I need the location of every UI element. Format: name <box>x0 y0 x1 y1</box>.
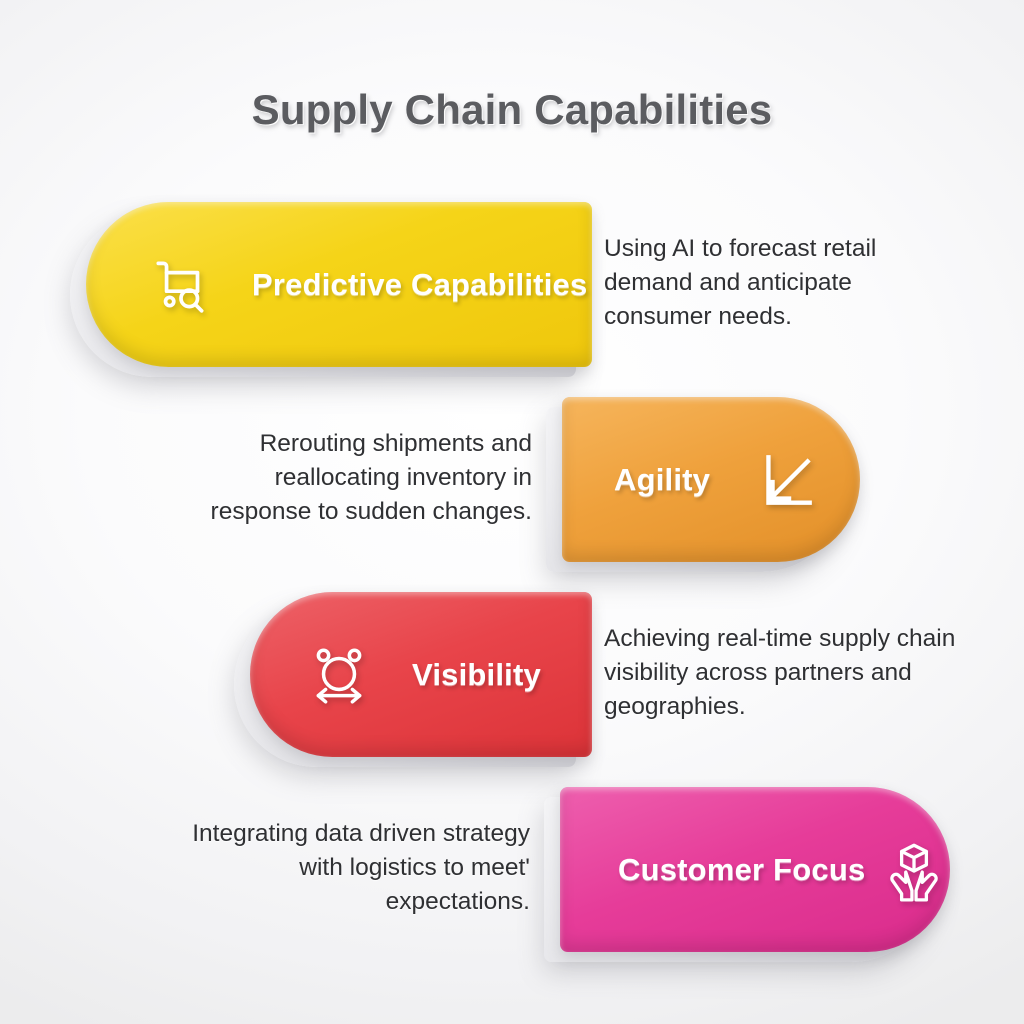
capability-row: Visibility Achieving real-time supply ch… <box>0 580 1024 770</box>
cart-search-icon <box>148 252 214 318</box>
capability-bar-agility[interactable]: Agility <box>562 397 860 562</box>
capability-row: Integrating data driven strategy with lo… <box>0 775 1024 965</box>
bar-label: Visibility <box>412 657 541 693</box>
capability-row: Rerouting shipments and reallocating inv… <box>0 385 1024 575</box>
network-node-icon <box>306 642 372 708</box>
bar-label: Predictive Capabilities <box>252 267 587 303</box>
capability-bar-visibility[interactable]: Visibility <box>250 592 592 757</box>
capability-bar-predictive-capabilities[interactable]: Predictive Capabilities <box>86 202 592 367</box>
capability-bar-customer-focus[interactable]: Customer Focus <box>560 787 950 952</box>
capability-description-customer-focus: Integrating data driven strategy with lo… <box>152 817 530 918</box>
down-left-arrow-icon <box>754 447 820 513</box>
bar-face[interactable]: Predictive Capabilities <box>86 202 592 367</box>
bar-face[interactable]: Visibility <box>250 592 592 757</box>
page-title: Supply Chain Capabilities <box>0 86 1024 134</box>
capability-description-predictive-capabilities: Using AI to forecast retail demand and a… <box>604 232 950 333</box>
bar-label: Agility <box>614 462 710 498</box>
bar-face[interactable]: Agility <box>562 397 860 562</box>
capability-description-visibility: Achieving real-time supply chain visibil… <box>604 622 956 723</box>
infographic-canvas: Supply Chain Capabilities Predictive Cap… <box>0 0 1024 1024</box>
bar-face[interactable]: Customer Focus <box>560 787 950 952</box>
capability-description-agility: Rerouting shipments and reallocating inv… <box>168 427 532 528</box>
capability-row: Predictive Capabilities Using AI to fore… <box>0 190 1024 380</box>
hands-holding-box-icon <box>881 837 947 903</box>
bar-label: Customer Focus <box>618 852 865 888</box>
